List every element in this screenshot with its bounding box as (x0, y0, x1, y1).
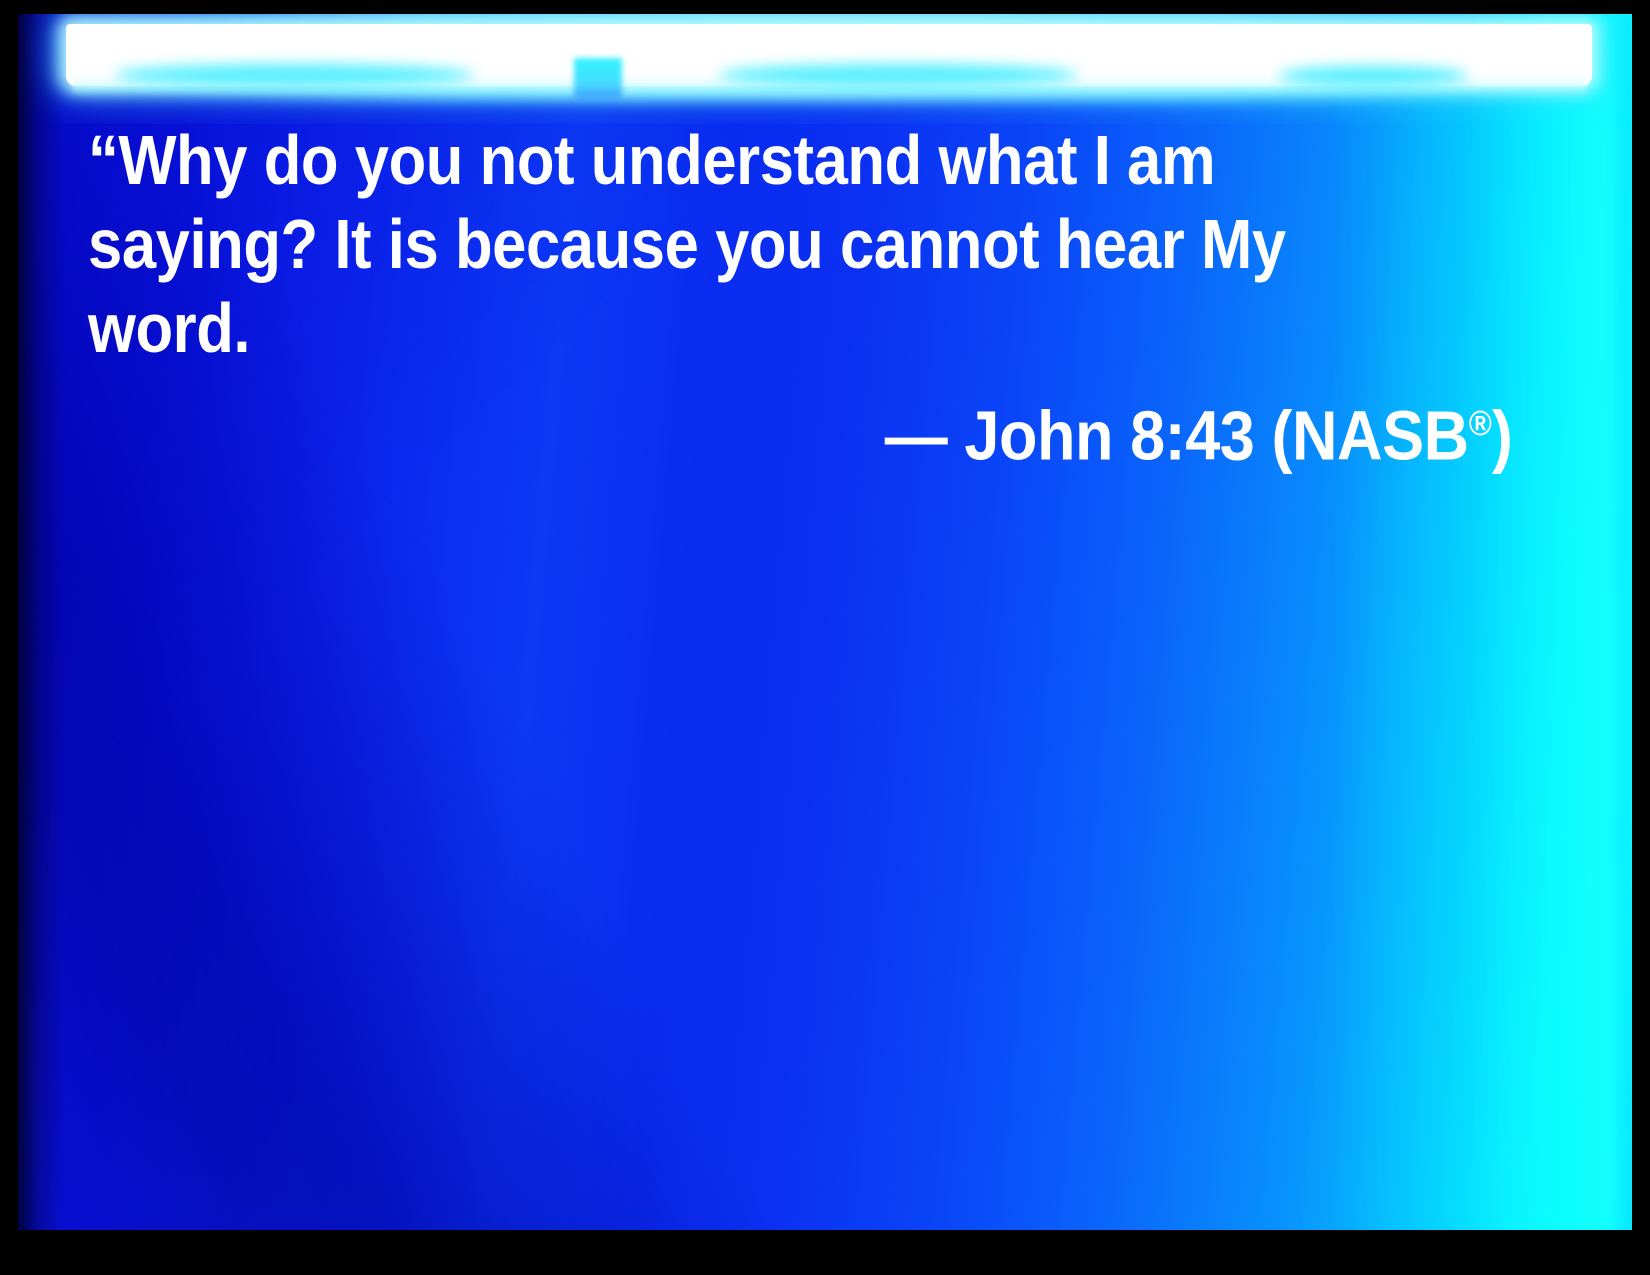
frame-border-bottom (0, 1230, 1650, 1275)
scripture-attribution: — John 8:43 (NASB®) (884, 382, 1512, 478)
frame-border-left (0, 0, 18, 1275)
attribution-translation: NASB (1292, 397, 1469, 475)
scripture-quote: “Why do you not understand what I am say… (88, 118, 1508, 370)
attribution-close-paren: ) (1491, 397, 1512, 475)
attribution-open-paren: ( (1271, 397, 1292, 475)
quote-line-1: “Why do you not understand what I am (88, 118, 1338, 202)
registered-trademark-icon: ® (1468, 404, 1491, 443)
slide-canvas: “Why do you not understand what I am say… (18, 14, 1632, 1230)
attribution-spacer (1254, 397, 1271, 475)
attribution-spacer (947, 397, 964, 475)
text-layer: “Why do you not understand what I am say… (18, 14, 1632, 1230)
slide-frame: “Why do you not understand what I am say… (0, 0, 1650, 1275)
attribution-reference: John 8:43 (964, 397, 1254, 475)
frame-border-right (1632, 0, 1650, 1275)
quote-line-2: saying? It is because you cannot hear My (88, 202, 1338, 286)
frame-border-top (0, 0, 1650, 14)
attribution-dash: — (884, 397, 947, 475)
quote-line-3: word. (88, 286, 1338, 370)
